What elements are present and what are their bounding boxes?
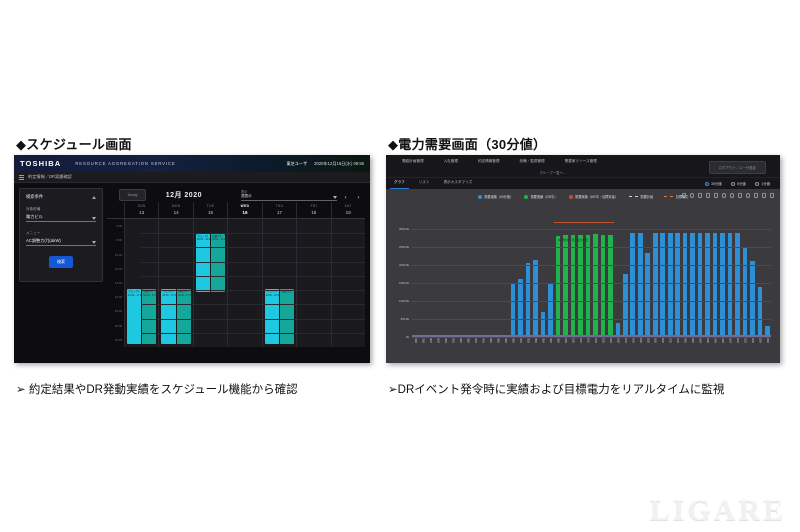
chart-bar[interactable] bbox=[518, 279, 523, 337]
chart-bar[interactable] bbox=[638, 233, 643, 337]
calendar-event-half: ブロック116:30 - 17:00 bbox=[127, 289, 141, 344]
calendar-gridline bbox=[141, 304, 365, 305]
calendar-event-half: 実績 2.809:00 - 10:00 bbox=[211, 234, 225, 292]
calendar-daynum: 13 bbox=[125, 210, 158, 215]
calendar-time-label: 8:00 bbox=[117, 238, 122, 242]
chart-bar[interactable] bbox=[728, 233, 733, 337]
view-select-value: 週表示 bbox=[241, 194, 252, 199]
calendar-column-0[interactable]: ブロック116:30 - 17:00実績 2.316:30 - 17:00 bbox=[124, 219, 158, 347]
camera-icon-glyph bbox=[770, 193, 775, 198]
chart-x-tick: 18:30 bbox=[689, 338, 696, 359]
chart-bar[interactable] bbox=[593, 234, 598, 337]
power-subnav: グループ一覧へ… ログアウト／ユーザ設定 bbox=[386, 168, 780, 178]
topnav-item-4[interactable]: 需要家リソース管理 bbox=[555, 159, 607, 164]
legend-dot-icon bbox=[569, 195, 573, 199]
view-select[interactable]: 表示 週表示 bbox=[241, 189, 337, 201]
chart-x-tick-label: 10:30 bbox=[571, 338, 574, 342]
chart-bar[interactable] bbox=[556, 236, 561, 337]
chart-x-tick: 02:30 bbox=[449, 338, 456, 359]
chart-x-tick: 15:30 bbox=[644, 338, 651, 359]
calendar-time-label: 6:00 bbox=[117, 224, 122, 228]
chart-x-tick-label: 04:00 bbox=[474, 338, 477, 342]
calendar-nav: 表示 週表示 ‹ › bbox=[241, 189, 363, 201]
field-menu[interactable]: メニュー AC調整力(Ⅰ′)(ΔkW) bbox=[26, 231, 96, 246]
chart-x-tick: 20:00 bbox=[711, 338, 718, 359]
field-facility-value: 電力ビル bbox=[26, 214, 43, 220]
chart-x-tick-label: 11:30 bbox=[586, 338, 589, 342]
user-name[interactable]: 東芝ユーザ bbox=[286, 161, 307, 167]
chevron-down-icon[interactable] bbox=[92, 241, 96, 244]
chart-bar[interactable] bbox=[511, 283, 516, 337]
chart-x-tick: 21:00 bbox=[726, 338, 733, 359]
legend-label: 需要計画 bbox=[640, 194, 653, 199]
calendar-event-time: 09:00 - 10:00 bbox=[212, 238, 225, 241]
calendar-event-half: 実績 2.316:30 - 17:00 bbox=[142, 289, 156, 344]
chart-x-tick: 05:30 bbox=[494, 338, 501, 359]
group-list-link[interactable]: グループ一覧へ… bbox=[540, 170, 567, 175]
radio-label: 5分値 bbox=[737, 181, 746, 186]
chart-y-tick-label: 2500.0k bbox=[399, 245, 409, 249]
chart-bar[interactable] bbox=[735, 233, 740, 337]
logout-settings-button[interactable]: ログアウト／ユーザ設定 bbox=[709, 161, 766, 174]
chart-x-tick-label: 03:00 bbox=[459, 338, 462, 342]
chart-bar[interactable] bbox=[660, 233, 665, 337]
chart-x-tick: 04:00 bbox=[472, 338, 479, 359]
calendar-dow: WED bbox=[228, 204, 261, 208]
chart-x-tick-label: 22:00 bbox=[744, 338, 747, 342]
camera-icon[interactable] bbox=[770, 193, 775, 198]
radio-label: 1分値 bbox=[761, 181, 770, 186]
chart-x-tick: 12:00 bbox=[592, 338, 599, 359]
calendar-month-label: 12月 2020 bbox=[166, 190, 202, 200]
calendar-event-half: 実績 約定 bbox=[280, 289, 294, 344]
legend-item-1[interactable]: 需要実績（DR中） bbox=[524, 194, 557, 199]
calendar-event-1[interactable]: ブロック116:30 - 17:00実績 2.316:30 - 17:00 bbox=[161, 289, 190, 344]
chart-x-tick: 11:30 bbox=[584, 338, 591, 359]
chart-x-tick: 09:30 bbox=[554, 338, 561, 359]
chart-x-tick: 16:00 bbox=[652, 338, 659, 359]
calendar-event-half: ブロック116:30 - 17:00 bbox=[161, 289, 175, 344]
calendar-gridline bbox=[141, 319, 365, 320]
calendar-column-5[interactable] bbox=[296, 219, 330, 347]
chart-x-tick-label: 00:00 bbox=[414, 338, 417, 342]
legend-dot-icon bbox=[478, 195, 482, 199]
chart-x-tick-label: 08:30 bbox=[541, 338, 544, 342]
calendar-column-6[interactable] bbox=[331, 219, 365, 347]
hover-icon[interactable] bbox=[754, 193, 759, 198]
calendar-column-1[interactable]: ブロック116:30 - 17:00実績 2.316:30 - 17:00 bbox=[158, 219, 192, 347]
chart-x-tick: 22:00 bbox=[741, 338, 748, 359]
power-demand-screenshot: 需給計画管理入札管理約定情報管理設備・監視管理需要家リソース管理 グループ一覧へ… bbox=[386, 155, 780, 363]
chart-x-tick: 22:30 bbox=[749, 338, 756, 359]
chart-x-tick-label: 03:30 bbox=[467, 338, 470, 342]
autoscale-icon-glyph bbox=[738, 193, 743, 198]
legend-dot-icon bbox=[524, 195, 528, 199]
calendar-daynum: 17 bbox=[263, 210, 296, 215]
slide-canvas: ◆スケジュール画面 ◆電力需要画面（30分値） TOSHIBA RESOURCE… bbox=[0, 0, 800, 532]
calendar-event-half: ブロック112:00 - 13:00 bbox=[265, 289, 279, 344]
chart-x-tick: 14:00 bbox=[622, 338, 629, 359]
chart-x-tick-label: 15:00 bbox=[639, 338, 642, 342]
filter-title: 検索条件 bbox=[26, 194, 43, 200]
chart-bar[interactable] bbox=[548, 283, 553, 337]
chart-x-tick-label: 09:00 bbox=[549, 338, 552, 342]
hamburger-menu-icon[interactable] bbox=[19, 175, 24, 180]
next-week-button[interactable]: › bbox=[354, 195, 363, 201]
schedule-section-heading: ◆スケジュール画面 bbox=[16, 134, 132, 153]
chart-x-tick-label: 01:00 bbox=[429, 338, 432, 342]
calendar-time-label: 16:00 bbox=[115, 295, 122, 299]
caption-power: ➢DRイベント発令時に実績および目標電力をリアルタイムに監視 bbox=[388, 381, 724, 397]
chart-bar[interactable] bbox=[668, 233, 673, 337]
app-topbar: TOSHIBA RESOURCE AGGREGATION SERVICE 東芝ユ… bbox=[14, 155, 370, 172]
tab-リスト[interactable]: リスト bbox=[419, 180, 430, 187]
chart-x-tick-label: 13:30 bbox=[616, 338, 619, 342]
radio-dot-icon bbox=[705, 182, 709, 186]
chart-x-tick: 11:00 bbox=[577, 338, 584, 359]
calendar-gutter bbox=[107, 202, 124, 218]
target-power-line bbox=[554, 222, 614, 223]
chart-x-tick-label: 23:00 bbox=[759, 338, 762, 342]
chart-x-tick: 08:30 bbox=[539, 338, 546, 359]
calendar-toolbar: Today 12月 2020 表示 週表示 ‹ › bbox=[107, 187, 365, 202]
chart-x-tick: 21:30 bbox=[734, 338, 741, 359]
chevron-down-icon[interactable] bbox=[333, 196, 337, 199]
calendar-time-label: 12:00 bbox=[115, 267, 122, 271]
chart-x-tick-label: 20:30 bbox=[721, 338, 724, 342]
chart-y-tick-label: 1500.0k bbox=[399, 281, 409, 285]
calendar-column-4[interactable]: ブロック112:00 - 13:00実績 約定 bbox=[262, 219, 296, 347]
tab-表示カスタマイズ[interactable]: 表示カスタマイズ bbox=[444, 180, 473, 187]
calendar-body: 6:008:0010:0012:0014:0016:0018:0020:0022… bbox=[107, 219, 365, 347]
chart-x-tick-label: 22:30 bbox=[751, 338, 754, 342]
chart-gridline bbox=[412, 301, 771, 302]
chevron-down-icon[interactable] bbox=[92, 217, 96, 220]
calendar-event-3[interactable]: ブロック112:00 - 13:00実績 約定 bbox=[265, 289, 294, 344]
calendar-dow: FRI bbox=[297, 204, 330, 208]
lasso-icon[interactable] bbox=[714, 193, 719, 198]
view-select-value-row[interactable]: 週表示 bbox=[241, 194, 337, 201]
chart-x-tick-label: 08:00 bbox=[534, 338, 537, 342]
calendar-dow: SUN bbox=[125, 204, 158, 208]
calendar-event-time: 12:00 - 13:00 bbox=[266, 294, 279, 297]
chart-x-tick: 17:30 bbox=[674, 338, 681, 359]
breadcrumb-bar: 約定情報／DR実績確認 bbox=[14, 172, 370, 183]
chart-x-tick-label: 16:00 bbox=[654, 338, 657, 342]
calendar-day-columns: ブロック116:30 - 17:00実績 2.316:30 - 17:00ブロッ… bbox=[124, 219, 365, 347]
chart-bar[interactable] bbox=[683, 233, 688, 337]
chart-x-tick-label: 18:00 bbox=[684, 338, 687, 342]
plotly-toolbar[interactable] bbox=[682, 193, 775, 198]
calendar-gridline bbox=[141, 247, 365, 248]
calendar-day-header-3[interactable]: WED16 bbox=[227, 202, 261, 218]
chart-x-tick-label: 21:00 bbox=[729, 338, 732, 342]
field-menu-input[interactable]: AC調整力(Ⅰ′)(ΔkW) bbox=[26, 238, 96, 247]
field-facility-input[interactable]: 電力ビル bbox=[26, 214, 96, 223]
box-select-icon[interactable] bbox=[706, 193, 711, 198]
chart-x-tick: 14:30 bbox=[629, 338, 636, 359]
chart-x-tick-label: 18:30 bbox=[691, 338, 694, 342]
legend-item-0[interactable]: 需要実績（30分値） bbox=[478, 194, 514, 199]
chart-x-tick-label: 17:30 bbox=[676, 338, 679, 342]
field-menu-value: AC調整力(Ⅰ′)(ΔkW) bbox=[26, 238, 61, 244]
chart-x-tick: 00:30 bbox=[419, 338, 426, 359]
chart-gridline bbox=[412, 247, 771, 248]
radio-interval-1[interactable]: 5分値 bbox=[731, 181, 746, 186]
pan-icon-glyph bbox=[682, 193, 687, 198]
calendar-dow: TUE bbox=[194, 204, 227, 208]
legend-label: 需要実績（DR中・目標未達） bbox=[575, 194, 618, 199]
chart-x-tick: 23:30 bbox=[764, 338, 771, 359]
calendar-time-axis: 6:008:0010:0012:0014:0016:0018:0020:0022… bbox=[107, 219, 124, 347]
chart-x-tick: 10:30 bbox=[569, 338, 576, 359]
calendar-dow: SAT bbox=[332, 204, 365, 208]
chart-x-tick: 16:30 bbox=[659, 338, 666, 359]
chart-x-tick: 09:00 bbox=[547, 338, 554, 359]
chart-y-tick-label: 2000.0k bbox=[399, 263, 409, 267]
legend-label: 需要実績（30分値） bbox=[484, 194, 513, 199]
calendar-event-time: 09:00 - 10:00 bbox=[197, 238, 210, 241]
calendar-time-label: 20:00 bbox=[115, 324, 122, 328]
chart-gridline bbox=[412, 319, 771, 320]
chart-x-tick: 03:30 bbox=[464, 338, 471, 359]
chart-x-tick-label: 02:00 bbox=[444, 338, 447, 342]
select-icon-glyph bbox=[698, 193, 703, 198]
chart-x-tick-label: 13:00 bbox=[609, 338, 612, 342]
compare-icon-glyph bbox=[762, 193, 767, 198]
radio-interval-2[interactable]: 1分値 bbox=[755, 181, 770, 186]
chart-x-tick-label: 10:00 bbox=[564, 338, 567, 342]
calendar-header-row: SUN13MON14TUE15WED16THU17FRI18SAT19 bbox=[107, 202, 365, 219]
chart-x-tick-label: 16:30 bbox=[661, 338, 664, 342]
calendar-grid: SUN13MON14TUE15WED16THU17FRI18SAT19 6:00… bbox=[107, 202, 365, 347]
schedule-body: 検索条件 対象設備 電力ビル メニュー AC調整力(Ⅰ′)(ΔkW) bbox=[14, 183, 370, 363]
calendar-column-3[interactable] bbox=[227, 219, 261, 347]
chart-x-tick-label: 23:30 bbox=[766, 338, 769, 342]
chart-x-tick: 20:30 bbox=[719, 338, 726, 359]
ligare-watermark: LIGARE bbox=[650, 494, 786, 528]
chart-x-tick-label: 07:30 bbox=[527, 338, 530, 342]
chart-x-tick: 01:30 bbox=[434, 338, 441, 359]
chart-gridline bbox=[412, 283, 771, 284]
topnav-item-2[interactable]: 約定情報管理 bbox=[468, 159, 510, 164]
radio-dot-icon bbox=[755, 182, 759, 186]
prev-week-button[interactable]: ‹ bbox=[341, 195, 350, 201]
zoom-out-icon[interactable] bbox=[730, 193, 735, 198]
chart-bar[interactable] bbox=[630, 233, 635, 337]
lasso-icon-glyph bbox=[714, 193, 719, 198]
hover-icon-glyph bbox=[754, 193, 759, 198]
chart-x-tick: 08:00 bbox=[532, 338, 539, 359]
calendar-event-0[interactable]: ブロック116:30 - 17:00実績 2.316:30 - 17:00 bbox=[127, 289, 156, 344]
chart-bar[interactable] bbox=[713, 233, 718, 337]
chart-bar[interactable] bbox=[533, 260, 538, 337]
calendar-day-header-1[interactable]: MON14 bbox=[158, 202, 192, 218]
calendar-time-label: 18:00 bbox=[115, 309, 122, 313]
power-tabbar: グラフリスト表示カスタマイズ 30分値5分値1分値 bbox=[386, 178, 780, 189]
chart-x-tick: 23:00 bbox=[756, 338, 763, 359]
chart-x-tick-label: 19:00 bbox=[699, 338, 702, 342]
toshiba-logo: TOSHIBA bbox=[20, 159, 61, 168]
filter-header[interactable]: 検索条件 bbox=[26, 194, 96, 200]
chart-x-tick-label: 04:30 bbox=[482, 338, 485, 342]
zoom-icon[interactable] bbox=[690, 193, 695, 198]
reset-icon[interactable] bbox=[746, 193, 751, 198]
calendar-time-label: 14:00 bbox=[115, 281, 122, 285]
chart-x-axis: 00:0000:3001:0001:3002:0002:3003:0003:30… bbox=[412, 338, 771, 359]
calendar-day-header-5[interactable]: FRI18 bbox=[296, 202, 330, 218]
chart-x-tick-label: 02:30 bbox=[452, 338, 455, 342]
chart-bar[interactable] bbox=[690, 233, 695, 337]
chevron-up-icon[interactable] bbox=[92, 196, 96, 199]
chart-x-tick: 06:00 bbox=[502, 338, 509, 359]
chart-bar[interactable] bbox=[653, 233, 658, 337]
chart-plot-area[interactable]: DR発動中（目標電力達成） 0k500.0k1000.0k1500.0k2000… bbox=[412, 211, 771, 337]
legend-item-2[interactable]: 需要実績（DR中・目標未達） bbox=[569, 194, 618, 199]
chart-x-tick-label: 21:30 bbox=[736, 338, 739, 342]
chart-x-tick-label: 06:30 bbox=[512, 338, 515, 342]
chart-bar[interactable] bbox=[675, 233, 680, 337]
chart-x-tick: 05:00 bbox=[487, 338, 494, 359]
chart-x-tick: 15:00 bbox=[637, 338, 644, 359]
chart-x-tick-label: 07:00 bbox=[519, 338, 522, 342]
chart-y-tick-label: 3000.0k bbox=[399, 227, 409, 231]
current-datetime: 2020年12月16日(水) 09:56 bbox=[314, 161, 364, 167]
chart-x-tick: 06:30 bbox=[509, 338, 516, 359]
chart-y-tick-label: 1000.0k bbox=[399, 299, 409, 303]
chart-x-tick: 04:30 bbox=[479, 338, 486, 359]
compare-icon[interactable] bbox=[762, 193, 767, 198]
field-facility[interactable]: 対象設備 電力ビル bbox=[26, 207, 96, 222]
calendar-daynum: 15 bbox=[194, 210, 227, 215]
chart-bar[interactable] bbox=[563, 235, 568, 337]
filter-panel-wrap: 検索条件 対象設備 電力ビル メニュー AC調整力(Ⅰ′)(ΔkW) bbox=[14, 183, 107, 363]
radio-interval-0[interactable]: 30分値 bbox=[705, 181, 722, 186]
chart-bar[interactable] bbox=[571, 235, 576, 337]
caption-schedule: ➢ 約定結果やDR発動実績をスケジュール機能から確認 bbox=[16, 381, 298, 397]
chart-bar[interactable] bbox=[758, 287, 763, 337]
calendar-event-half: ブロック109:00 - 10:00 bbox=[196, 234, 210, 292]
chart-x-tick: 07:30 bbox=[524, 338, 531, 359]
search-filter-card: 検索条件 対象設備 電力ビル メニュー AC調整力(Ⅰ′)(ΔkW) bbox=[19, 188, 103, 282]
reset-icon-glyph bbox=[746, 193, 751, 198]
calendar-event-time: 16:30 - 17:00 bbox=[162, 294, 175, 297]
topbar-right: 東芝ユーザ 2020年12月16日(水) 09:56 bbox=[286, 161, 364, 167]
calendar-event-time: 16:30 - 17:00 bbox=[178, 294, 191, 297]
chart-bar[interactable] bbox=[608, 235, 613, 337]
box-select-icon-glyph bbox=[706, 193, 711, 198]
legend-dash-icon bbox=[664, 196, 673, 197]
chart-gridline bbox=[412, 265, 771, 266]
chart-x-tick-label: 11:00 bbox=[579, 338, 582, 342]
chart-bar[interactable] bbox=[586, 235, 591, 337]
service-name: RESOURCE AGGREGATION SERVICE bbox=[75, 161, 175, 166]
pan-icon[interactable] bbox=[682, 193, 687, 198]
chart-y-tick-label: 0k bbox=[406, 335, 409, 339]
legend-dash-icon bbox=[629, 196, 638, 197]
chart-y-tick-label: 500.0k bbox=[401, 317, 409, 321]
chart-bar[interactable] bbox=[743, 247, 748, 337]
chart-x-tick-label: 14:30 bbox=[631, 338, 634, 342]
zoom-in-icon[interactable] bbox=[722, 193, 727, 198]
chart-x-tick-label: 14:00 bbox=[624, 338, 627, 342]
chart-bar[interactable] bbox=[698, 233, 703, 337]
chart-x-tick-label: 19:30 bbox=[706, 338, 709, 342]
zoom-icon-glyph bbox=[690, 193, 695, 198]
zoom-in-icon-glyph bbox=[722, 193, 727, 198]
chart-x-tick-label: 12:30 bbox=[601, 338, 604, 342]
chart-x-tick: 12:30 bbox=[599, 338, 606, 359]
chart-bar[interactable] bbox=[578, 235, 583, 337]
calendar-day-header-6[interactable]: SAT19 bbox=[331, 202, 365, 218]
chart-bar[interactable] bbox=[601, 235, 606, 337]
chart-bar[interactable] bbox=[705, 233, 710, 337]
chart-x-tick: 03:00 bbox=[457, 338, 464, 359]
zoom-out-icon-glyph bbox=[730, 193, 735, 198]
topnav-item-0[interactable]: 需給計画管理 bbox=[392, 159, 434, 164]
calendar-gridline bbox=[141, 233, 365, 234]
radio-dot-icon bbox=[731, 182, 735, 186]
calendar-daynum: 19 bbox=[332, 210, 365, 215]
chart-x-tick: 01:00 bbox=[427, 338, 434, 359]
chart-bar[interactable] bbox=[750, 261, 755, 337]
chart-x-tick-label: 15:30 bbox=[646, 338, 649, 342]
chart-bar[interactable] bbox=[720, 233, 725, 337]
calendar-event-time: 16:30 - 17:00 bbox=[128, 294, 141, 297]
chart-gridline bbox=[412, 229, 771, 230]
chart-x-tick: 07:00 bbox=[517, 338, 524, 359]
calendar-event-2[interactable]: ブロック109:00 - 10:00実績 2.809:00 - 10:00 bbox=[196, 234, 225, 292]
calendar-daynum: 14 bbox=[159, 210, 192, 215]
chart-x-tick: 17:00 bbox=[666, 338, 673, 359]
tab-グラフ[interactable]: グラフ bbox=[394, 180, 405, 187]
calendar-gridline bbox=[141, 290, 365, 291]
chart-x-tick: 18:00 bbox=[681, 338, 688, 359]
field-facility-label: 対象設備 bbox=[26, 207, 96, 212]
legend-label: 需要実績（DR中） bbox=[531, 194, 558, 199]
chart-x-tick: 13:30 bbox=[614, 338, 621, 359]
chart-x-tick: 19:00 bbox=[696, 338, 703, 359]
today-button[interactable]: Today bbox=[119, 189, 146, 201]
chart-x-tick: 10:00 bbox=[562, 338, 569, 359]
legend-item-3[interactable]: 需要計画 bbox=[629, 194, 653, 199]
calendar-day-header-2[interactable]: TUE15 bbox=[193, 202, 227, 218]
chart-bar[interactable] bbox=[541, 312, 546, 337]
calendar-day-header-4[interactable]: THU17 bbox=[262, 202, 296, 218]
topnav-item-3[interactable]: 設備・監視管理 bbox=[510, 159, 555, 164]
chart-x-tick-label: 09:30 bbox=[556, 338, 559, 342]
chart-x-tick: 19:30 bbox=[704, 338, 711, 359]
power-section-heading: ◆電力需要画面（30分値） bbox=[388, 134, 546, 153]
calendar-day-header-0[interactable]: SUN13 bbox=[124, 202, 158, 218]
chart-x-tick-label: 17:00 bbox=[669, 338, 672, 342]
chart-x-tick-label: 05:30 bbox=[497, 338, 500, 342]
calendar-panel: Today 12月 2020 表示 週表示 ‹ › bbox=[107, 183, 370, 363]
calendar-time-label: 22:00 bbox=[115, 338, 122, 342]
calendar-column-2[interactable]: ブロック109:00 - 10:00実績 2.809:00 - 10:00 bbox=[193, 219, 227, 347]
topnav-item-1[interactable]: 入札管理 bbox=[434, 159, 468, 164]
search-button[interactable]: 検索 bbox=[49, 256, 73, 268]
field-menu-label: メニュー bbox=[26, 231, 96, 236]
chart-x-tick: 13:00 bbox=[607, 338, 614, 359]
breadcrumb: 約定情報／DR実績確認 bbox=[28, 174, 72, 180]
dr-active-label: DR発動中（目標電力達成） bbox=[558, 238, 590, 242]
autoscale-icon[interactable] bbox=[738, 193, 743, 198]
calendar-gridline bbox=[141, 333, 365, 334]
calendar-daynum: 18 bbox=[297, 210, 330, 215]
select-icon[interactable] bbox=[698, 193, 703, 198]
chart-x-tick-label: 01:30 bbox=[437, 338, 440, 342]
